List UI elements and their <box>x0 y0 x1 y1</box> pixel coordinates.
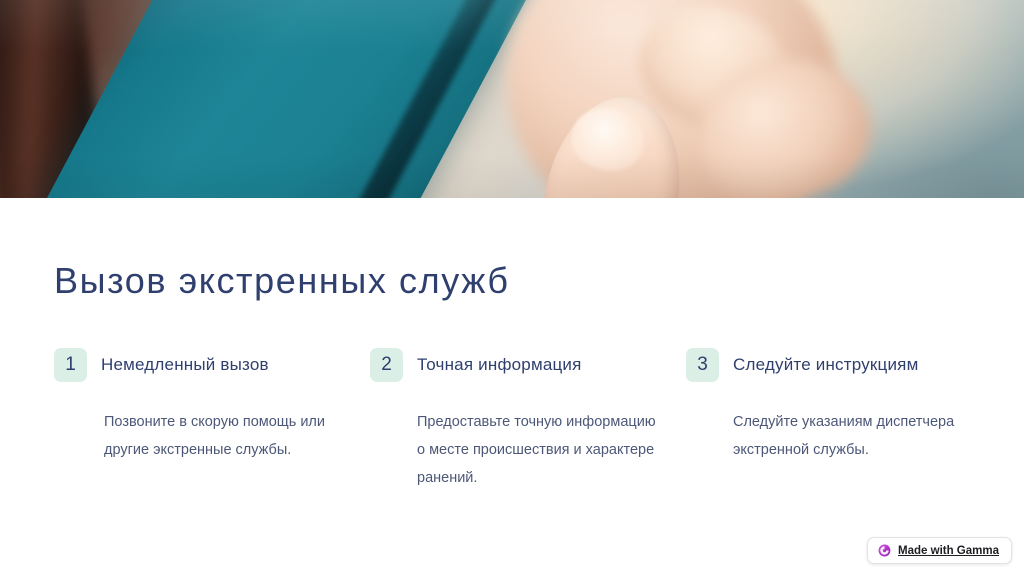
step-column-1: 1 Немедленный вызов Позвоните в скорую п… <box>54 348 370 492</box>
step-title-1: Немедленный вызов <box>101 355 269 375</box>
slide: Вызов экстренных служб 1 Немедленный выз… <box>0 0 1024 574</box>
step-number-badge-2: 2 <box>370 348 403 382</box>
step-number-badge-3: 3 <box>686 348 719 382</box>
made-with-gamma-label: Made with Gamma <box>898 545 999 557</box>
step-number-badge-1: 1 <box>54 348 87 382</box>
step-header-2: 2 Точная информация <box>370 348 686 382</box>
step-header-3: 3 Следуйте инструкциям <box>686 348 1002 382</box>
step-column-3: 3 Следуйте инструкциям Следуйте указания… <box>686 348 1002 492</box>
slide-content: Вызов экстренных служб 1 Немедленный выз… <box>0 198 1024 574</box>
step-column-2: 2 Точная информация Предоставьте точную … <box>370 348 686 492</box>
step-title-2: Точная информация <box>417 355 582 375</box>
step-body-3: Следуйте указаниям диспетчера экстренной… <box>733 408 973 464</box>
gamma-logo-icon <box>878 544 891 557</box>
step-title-3: Следуйте инструкциям <box>733 355 918 375</box>
step-body-2: Предоставьте точную информацию о месте п… <box>417 408 657 492</box>
step-body-1: Позвоните в скорую помощь или другие экс… <box>104 408 344 464</box>
made-with-gamma-badge[interactable]: Made with Gamma <box>867 537 1012 564</box>
page-title: Вызов экстренных служб <box>54 260 510 302</box>
hero-image <box>0 0 1024 198</box>
steps-row: 1 Немедленный вызов Позвоните в скорую п… <box>54 348 984 492</box>
step-header-1: 1 Немедленный вызов <box>54 348 370 382</box>
